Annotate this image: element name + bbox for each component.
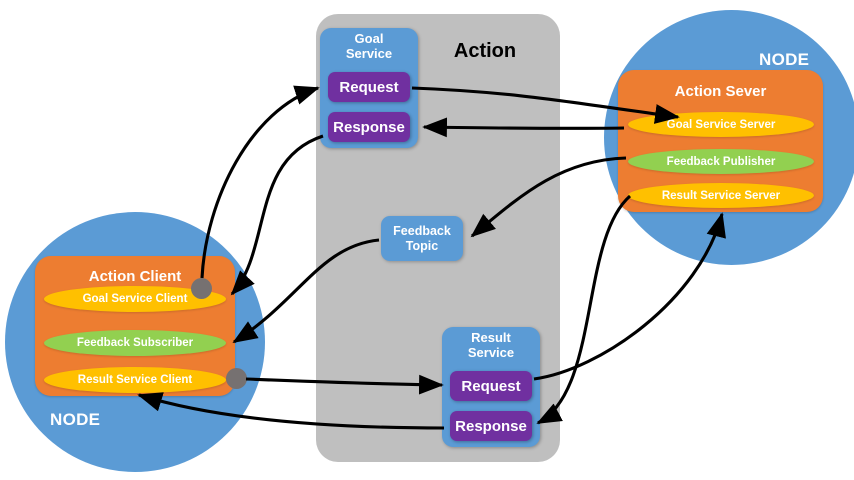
- action-server-title: Action Sever: [618, 83, 823, 100]
- goal-response-box[interactable]: Response: [328, 112, 410, 142]
- result-service-title: Result Service: [442, 330, 540, 360]
- result-request-box[interactable]: Request: [450, 371, 532, 401]
- action-server-node-label: NODE: [759, 50, 809, 70]
- feedback-topic-line1: Feedback: [393, 224, 451, 239]
- feedback-topic-box[interactable]: Feedback Topic: [381, 216, 463, 261]
- connector-goal-response-to-client: [232, 136, 323, 294]
- action-client-node-label: NODE: [50, 410, 100, 430]
- endpoint-goal-service-server[interactable]: Goal Service Server: [628, 112, 814, 137]
- diagram-canvas: Action NODE Action Client Goal Service C…: [0, 0, 854, 480]
- endpoint-feedback-subscriber[interactable]: Feedback Subscriber: [44, 330, 226, 356]
- client-goal-junction-dot: [191, 278, 212, 299]
- goal-service-title: Goal Service: [320, 31, 418, 61]
- goal-service-title-line2: Service: [320, 46, 418, 61]
- action-group-label: Action: [430, 40, 540, 63]
- result-service-title-line1: Result: [442, 330, 540, 345]
- endpoint-result-service-server[interactable]: Result Service Server: [628, 183, 814, 208]
- endpoint-result-service-client[interactable]: Result Service Client: [44, 367, 226, 393]
- goal-request-box[interactable]: Request: [328, 72, 410, 102]
- result-service-title-line2: Service: [442, 345, 540, 360]
- goal-service-title-line1: Goal: [320, 31, 418, 46]
- endpoint-feedback-publisher[interactable]: Feedback Publisher: [628, 149, 814, 174]
- client-result-junction-dot: [226, 368, 247, 389]
- feedback-topic-line2: Topic: [393, 239, 451, 254]
- result-response-box[interactable]: Response: [450, 411, 532, 441]
